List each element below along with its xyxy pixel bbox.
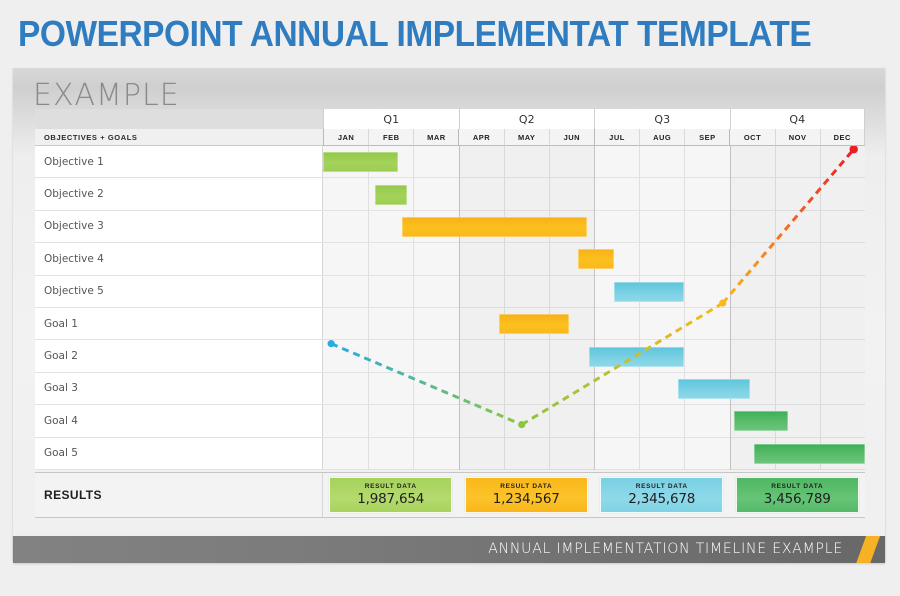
table-row[interactable]: Objective 3: [35, 211, 865, 243]
timeline-table: Q1 Q2 Q3 Q4 OBJECTIVES + GOALS JAN FEB M…: [35, 109, 865, 518]
quarter-header-q3: Q3: [594, 109, 730, 129]
table-row[interactable]: Objective 5: [35, 276, 865, 308]
accent-slash-icon: [854, 536, 881, 563]
row-track-objective-5[interactable]: [323, 276, 865, 307]
quarter-header-q4: Q4: [730, 109, 866, 129]
example-label: EXAMPLE: [33, 78, 180, 113]
row-track-goal-2[interactable]: [323, 340, 865, 371]
month-header-nov: NOV: [775, 129, 820, 146]
objectives-goals-header: OBJECTIVES + GOALS: [35, 129, 323, 146]
quarter-header-q1: Q1: [323, 109, 459, 129]
result-caption-q2: RESULT DATA: [500, 483, 552, 490]
month-header-jul: JUL: [594, 129, 639, 146]
result-box-q4[interactable]: RESULT DATA 3,456,789: [736, 477, 859, 513]
row-track-objective-2[interactable]: [323, 178, 865, 209]
row-track-goal-1[interactable]: [323, 308, 865, 339]
result-value-q1: 1,987,654: [357, 491, 424, 507]
row-label-goal-4: Goal 4: [35, 405, 323, 436]
quarter-header-row: Q1 Q2 Q3 Q4: [35, 109, 865, 129]
result-caption-q1: RESULT DATA: [365, 483, 417, 490]
table-row[interactable]: Goal 3: [35, 373, 865, 405]
month-header-oct: OCT: [729, 129, 774, 146]
row-track-goal-4[interactable]: [323, 405, 865, 436]
result-box-q3[interactable]: RESULT DATA 2,345,678: [600, 477, 723, 513]
result-cell-q4[interactable]: RESULT DATA 3,456,789: [730, 477, 866, 513]
result-caption-q4: RESULT DATA: [771, 483, 823, 490]
timeline-grid: Objective 1 Objective 2 Objective 3 Obje…: [35, 146, 865, 470]
month-header-apr: APR: [458, 129, 503, 146]
result-value-q4: 3,456,789: [764, 491, 831, 507]
result-box-q2[interactable]: RESULT DATA 1,234,567: [465, 477, 588, 513]
result-box-q1[interactable]: RESULT DATA 1,987,654: [329, 477, 452, 513]
quarter-header-q2: Q2: [459, 109, 595, 129]
result-cell-q3[interactable]: RESULT DATA 2,345,678: [594, 477, 730, 513]
footer-title: ANNUAL IMPLEMENTATION TIMELINE EXAMPLE: [488, 536, 843, 563]
row-label-objective-4: Objective 4: [35, 243, 323, 274]
month-header-sep: SEP: [684, 129, 729, 146]
row-track-objective-4[interactable]: [323, 243, 865, 274]
table-row[interactable]: Objective 2: [35, 178, 865, 210]
table-row[interactable]: Objective 4: [35, 243, 865, 275]
page-title: POWERPOINT ANNUAL IMPLEMENTAT TEMPLATE: [18, 10, 818, 58]
result-value-q2: 1,234,567: [493, 491, 560, 507]
row-track-goal-3[interactable]: [323, 373, 865, 404]
month-header-jun: JUN: [549, 129, 594, 146]
result-value-q3: 2,345,678: [628, 491, 695, 507]
month-header-aug: AUG: [639, 129, 684, 146]
month-header-may: MAY: [504, 129, 549, 146]
row-label-goal-2: Goal 2: [35, 340, 323, 371]
row-label-objective-3: Objective 3: [35, 211, 323, 242]
slide-canvas: EXAMPLE Q1 Q2 Q3 Q4 OBJECTIVES + GOALS J…: [13, 68, 885, 560]
results-row: RESULTS RESULT DATA 1,987,654 RESULT DAT…: [35, 472, 865, 518]
footer-bar: ANNUAL IMPLEMENTATION TIMELINE EXAMPLE: [13, 536, 885, 563]
row-track-objective-3[interactable]: [323, 211, 865, 242]
result-caption-q3: RESULT DATA: [636, 483, 688, 490]
results-label: RESULTS: [35, 473, 323, 517]
month-header-row: OBJECTIVES + GOALS JAN FEB MAR APR MAY J…: [35, 129, 865, 146]
result-cell-q1[interactable]: RESULT DATA 1,987,654: [323, 477, 459, 513]
month-header-jan: JAN: [323, 129, 368, 146]
quarter-header-spacer: [35, 109, 323, 129]
row-label-goal-3: Goal 3: [35, 373, 323, 404]
row-label-goal-1: Goal 1: [35, 308, 323, 339]
row-track-goal-5[interactable]: [323, 438, 865, 469]
month-header-dec: DEC: [820, 129, 865, 146]
month-header-feb: FEB: [368, 129, 413, 146]
row-track-objective-1[interactable]: [323, 146, 865, 177]
table-row[interactable]: Goal 5: [35, 438, 865, 470]
result-cell-q2[interactable]: RESULT DATA 1,234,567: [459, 477, 595, 513]
row-label-goal-5: Goal 5: [35, 438, 323, 469]
month-header-mar: MAR: [413, 129, 458, 146]
row-label-objective-5: Objective 5: [35, 276, 323, 307]
table-row[interactable]: Goal 1: [35, 308, 865, 340]
table-row[interactable]: Goal 4: [35, 405, 865, 437]
table-row[interactable]: Objective 1: [35, 146, 865, 178]
row-label-objective-2: Objective 2: [35, 178, 323, 209]
table-row[interactable]: Goal 2: [35, 340, 865, 372]
results-cells: RESULT DATA 1,987,654 RESULT DATA 1,234,…: [323, 473, 865, 517]
row-label-objective-1: Objective 1: [35, 146, 323, 177]
